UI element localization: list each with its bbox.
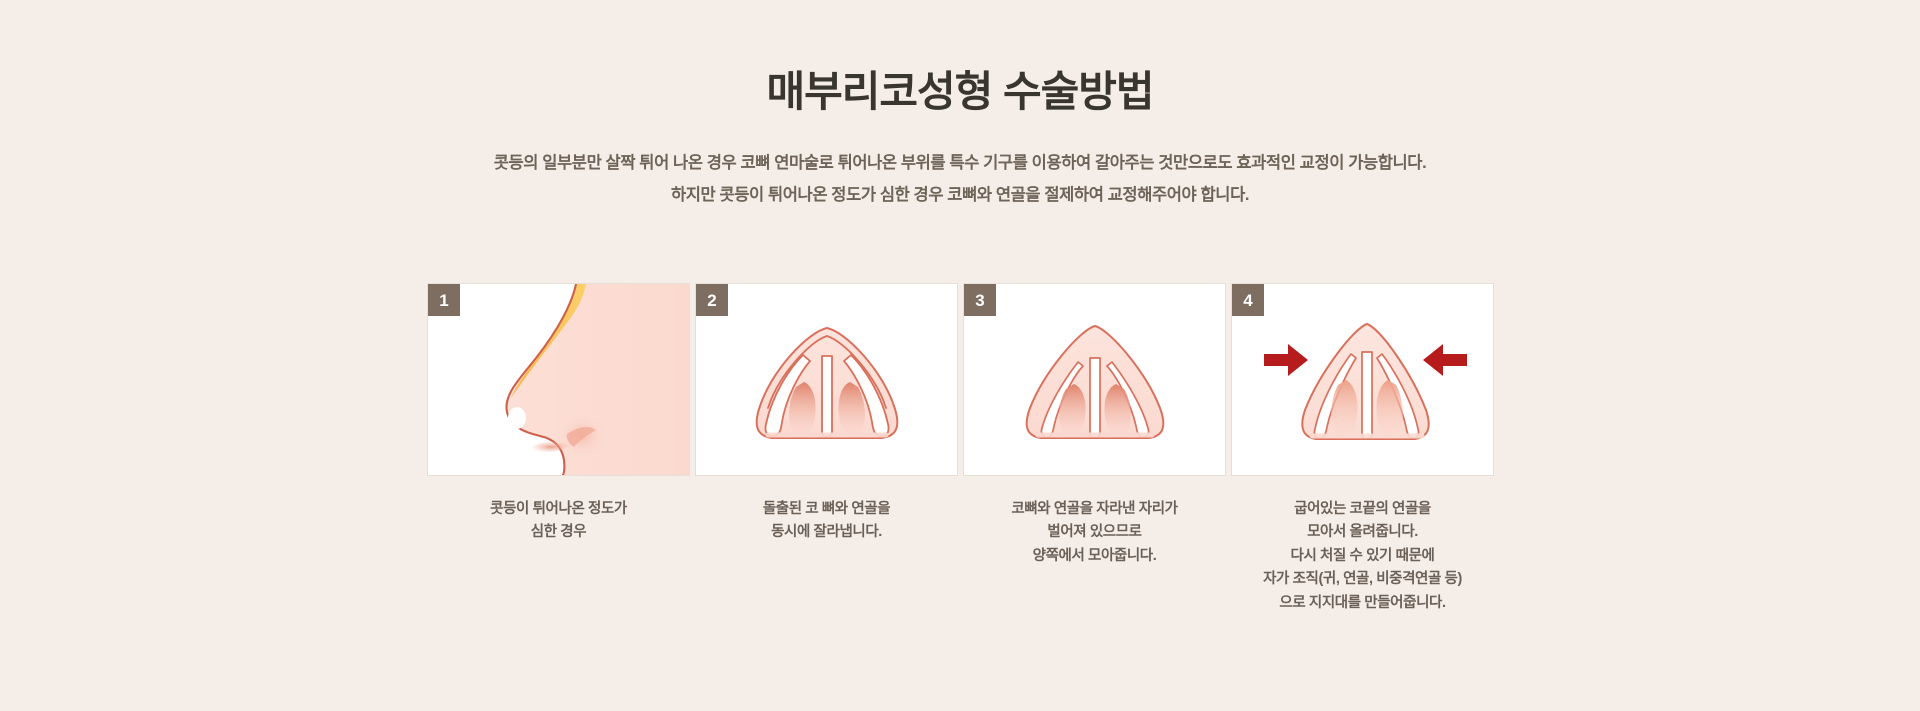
step-2-caption: 돌출된 코 뼈와 연골을 동시에 잘라냅니다. <box>682 498 972 545</box>
procedure-step-2: 2 <box>695 283 958 615</box>
arrow-right-icon <box>1264 344 1308 376</box>
step-3-caption: 코뼈와 연골을 자라낸 자리가 벌어져 있으므로 양쪽에서 모아줍니다. <box>950 498 1240 568</box>
nose-base-view-narrowed-illustration <box>964 284 1226 476</box>
procedure-step-gallery: 1 <box>427 283 1493 615</box>
arrow-left-icon <box>1423 344 1467 376</box>
procedure-step-3: 3 <box>963 283 1226 615</box>
step-4-caption-line-3: 다시 처질 수 있기 때문에 <box>1218 545 1508 568</box>
step-4-caption: 굽어있는 코끝의 연골을 모아서 올려줍니다. 다시 처질 수 있기 때문에 자… <box>1218 498 1508 615</box>
step-number-badge-4: 4 <box>1232 284 1264 316</box>
step-4-caption-line-4: 자가 조직(귀, 연골, 비중격연골 등) <box>1218 568 1508 591</box>
page-title: 매부리코성형 수술방법 <box>0 66 1920 119</box>
nose-profile-hump-illustration <box>428 284 690 476</box>
step-1-figure: 1 <box>427 283 690 476</box>
step-number-badge-3: 3 <box>964 284 996 316</box>
subtitle-line-2: 하지만 콧등이 튀어나온 정도가 심한 경우 코뼈와 연골을 절제하여 교정해주… <box>0 179 1920 211</box>
step-2-caption-line-2: 동시에 잘라냅니다. <box>682 521 972 544</box>
nose-base-view-with-arrows-illustration <box>1232 284 1494 476</box>
step-3-caption-line-3: 양쪽에서 모아줍니다. <box>950 545 1240 568</box>
page-header: 매부리코성형 수술방법 콧등의 일부분만 살짝 튀어 나온 경우 코뼈 연마술로… <box>0 0 1920 211</box>
step-2-caption-line-1: 돌출된 코 뼈와 연골을 <box>682 498 972 521</box>
procedure-step-1: 1 <box>427 283 690 615</box>
subtitle-line-1: 콧등의 일부분만 살짝 튀어 나온 경우 코뼈 연마술로 튀어나온 부위를 특수… <box>0 147 1920 179</box>
step-number-badge-2: 2 <box>696 284 728 316</box>
page-subtitle: 콧등의 일부분만 살짝 튀어 나온 경우 코뼈 연마술로 튀어나온 부위를 특수… <box>0 147 1920 211</box>
step-1-caption-line-2: 심한 경우 <box>414 521 704 544</box>
step-4-caption-line-5: 으로 지지대를 만들어줍니다. <box>1218 592 1508 615</box>
page-root: 매부리코성형 수술방법 콧등의 일부분만 살짝 튀어 나온 경우 코뼈 연마술로… <box>0 0 1920 711</box>
step-3-figure: 3 <box>963 283 1226 476</box>
step-3-caption-line-1: 코뼈와 연골을 자라낸 자리가 <box>950 498 1240 521</box>
step-1-caption: 콧등이 튀어나온 정도가 심한 경우 <box>414 498 704 545</box>
step-2-figure: 2 <box>695 283 958 476</box>
procedure-step-4: 4 <box>1231 283 1494 615</box>
step-4-figure: 4 <box>1231 283 1494 476</box>
step-number-badge-1: 1 <box>428 284 460 316</box>
step-3-caption-line-2: 벌어져 있으므로 <box>950 521 1240 544</box>
step-4-caption-line-2: 모아서 올려줍니다. <box>1218 521 1508 544</box>
step-4-caption-line-1: 굽어있는 코끝의 연골을 <box>1218 498 1508 521</box>
step-1-caption-line-1: 콧등이 튀어나온 정도가 <box>414 498 704 521</box>
nose-base-view-illustration <box>696 284 958 476</box>
